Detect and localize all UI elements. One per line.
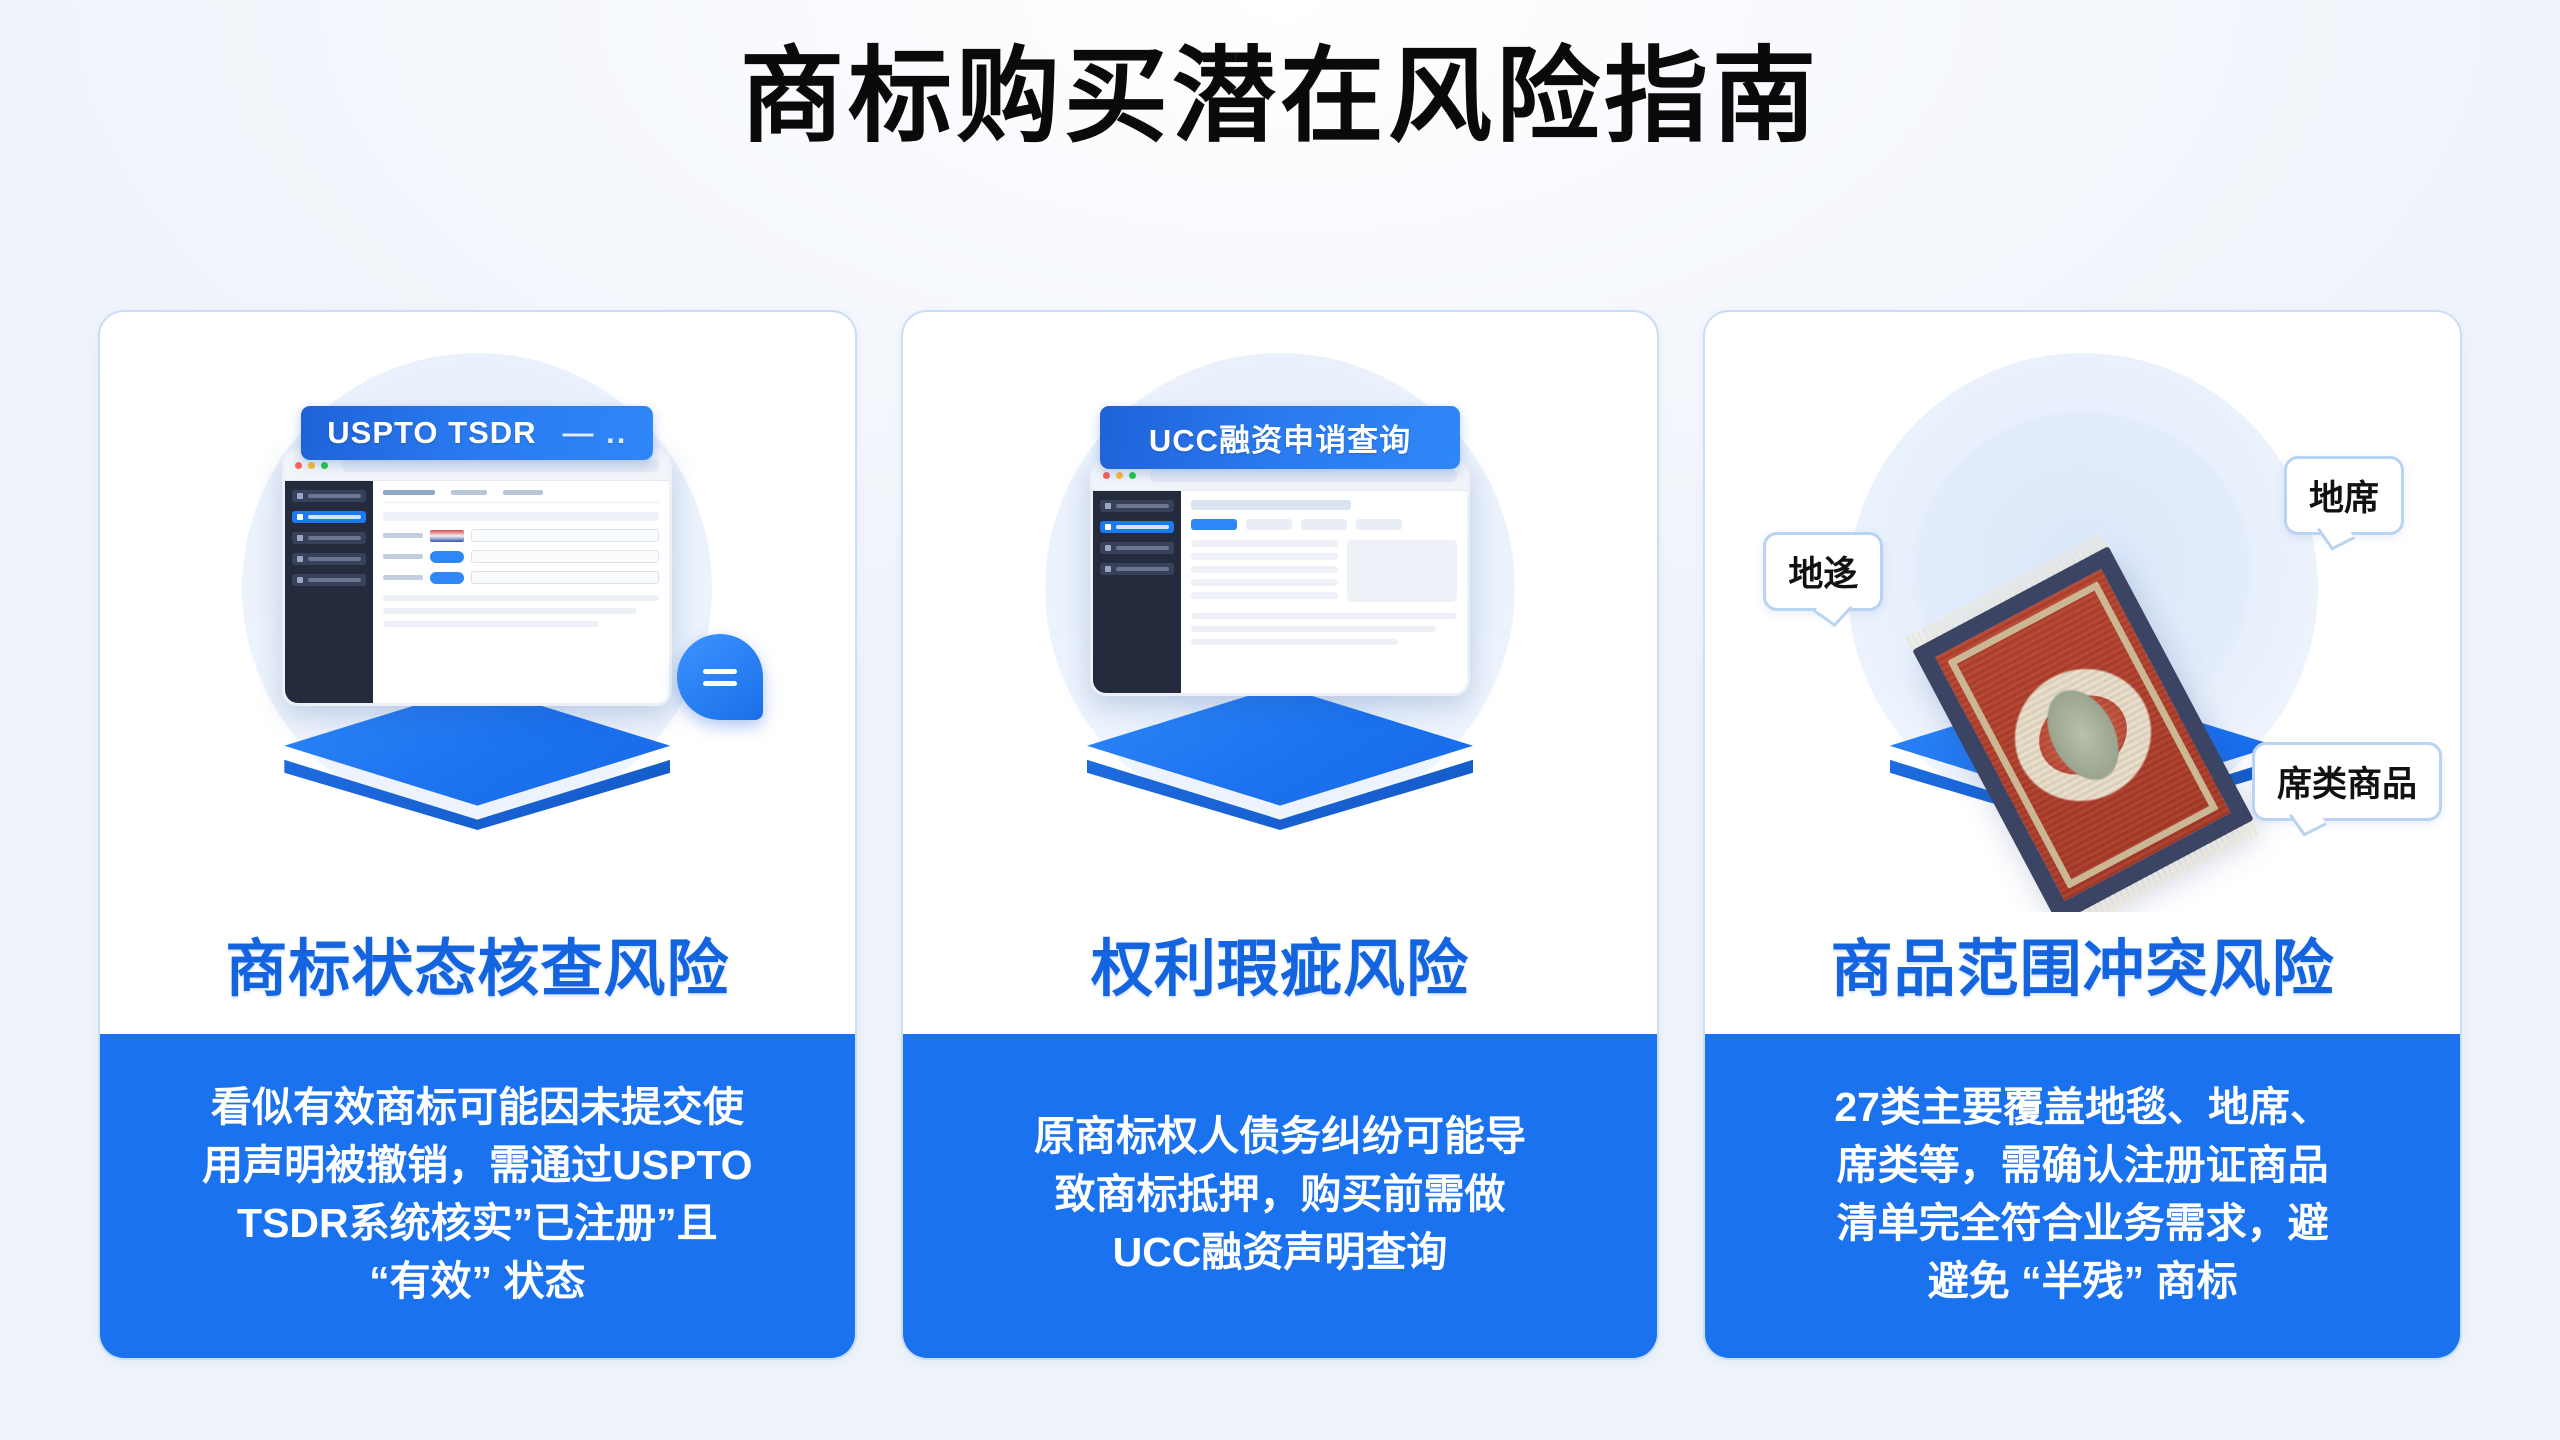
- callout-bubble-xilei-shangpin: 席类商品: [2252, 742, 2442, 821]
- body-line: “有效” 状态: [126, 1252, 829, 1310]
- illustration-carpet-callouts: 地迻 地席 席类商品: [1705, 312, 2460, 912]
- browser-window-mockup: [282, 448, 672, 706]
- card-heading: 商标状态核查风险: [100, 912, 855, 1034]
- sidebar-row-active: [292, 511, 366, 523]
- sidebar-row: [292, 574, 366, 586]
- risk-card-trademark-status: USPTO TSDR— .. 商标状态核查风险 看似有效商标可能因未提交使 用声…: [98, 310, 857, 1360]
- body-line: 27类主要覆盖地毯、地席、: [1731, 1078, 2434, 1136]
- mockup-tabs: [1191, 519, 1457, 530]
- callout-bubble-dixi: 地席: [2284, 456, 2404, 535]
- minimize-dot-icon: [1116, 472, 1123, 479]
- card-body-text: 原商标权人债务纠纷可能导 致商标抵押，购买前需做 UCC融资声明查询: [903, 1034, 1658, 1358]
- body-line: 清单完全符合业务需求，避: [1731, 1194, 2434, 1252]
- card-heading: 权利瑕疵风险: [903, 912, 1658, 1034]
- card-heading: 商品范围冲突风险: [1705, 912, 2460, 1034]
- mockup-results-grid: [1191, 540, 1457, 602]
- url-bar-placeholder: [342, 459, 659, 472]
- status-chip: [430, 572, 464, 584]
- minimize-dot-icon: [308, 462, 315, 469]
- mockup-tabs: [383, 490, 659, 503]
- maximize-dot-icon: [1129, 472, 1136, 479]
- body-line: 致商标抵押，购买前需做: [929, 1165, 1632, 1223]
- body-line: UCC融资声明查询: [929, 1223, 1632, 1281]
- sidebar-row: [1100, 542, 1174, 554]
- body-line: 席类等，需确认注册证商品: [1731, 1136, 2434, 1194]
- mockup-text-lines: [1191, 613, 1457, 645]
- mockup-text-lines: [1191, 540, 1338, 602]
- sidebar-row-active: [1100, 521, 1174, 533]
- illustration-label-ucc: UCC融资申诮查询: [1100, 406, 1460, 469]
- risk-card-rights-defect: UCC融资申诮查询 权利瑕疵风险 原商标权人债务纠纷可能导 致商标抵押，购买前需…: [901, 310, 1660, 1360]
- mockup-preview-box: [1347, 540, 1457, 602]
- platform-slab-icon: [1087, 686, 1473, 816]
- sidebar-row: [292, 490, 366, 502]
- body-line: 用声明被撤销，需通过USPTO: [126, 1136, 829, 1194]
- body-line: 看似有效商标可能因未提交使: [126, 1078, 829, 1136]
- mockup-form-row: [383, 550, 659, 563]
- mockup-section-header: [383, 512, 659, 521]
- body-line: 原商标权人债务纠纷可能导: [929, 1107, 1632, 1165]
- risk-card-goods-scope: 地迻 地席 席类商品 商品范围冲突风险 27类主要覆盖地毯、地席、 席类等，需确…: [1703, 310, 2462, 1360]
- close-dot-icon: [1103, 472, 1110, 479]
- maximize-dot-icon: [321, 462, 328, 469]
- flag-icon: [430, 530, 464, 542]
- callout-bubble-ditan: 地迻: [1763, 532, 1883, 611]
- mockup-form-row: [383, 571, 659, 584]
- sidebar-row: [292, 532, 366, 544]
- mockup-content: [373, 481, 669, 703]
- illustration-ucc-search: UCC融资申诮查询: [903, 312, 1658, 912]
- mockup-text-lines: [383, 595, 659, 627]
- url-bar-placeholder: [1150, 469, 1457, 482]
- status-chip: [430, 551, 464, 563]
- sidebar-row: [1100, 500, 1174, 512]
- mockup-form-row: [383, 529, 659, 542]
- sidebar-row: [1100, 563, 1174, 575]
- close-dot-icon: [295, 462, 302, 469]
- body-line: TSDR系统核实”已注册”且: [126, 1194, 829, 1252]
- equals-chat-badge-icon: [677, 634, 763, 720]
- page-title: 商标购买潜在风险指南: [0, 38, 2560, 158]
- card-body-text: 看似有效商标可能因未提交使 用声明被撤销，需通过USPTO TSDR系统核实”已…: [100, 1034, 855, 1358]
- mockup-section-header: [1191, 500, 1351, 510]
- risk-card-list: USPTO TSDR— .. 商标状态核查风险 看似有效商标可能因未提交使 用声…: [98, 310, 2462, 1360]
- illustration-uspto-tsdr: USPTO TSDR— ..: [100, 312, 855, 912]
- sidebar-row: [292, 553, 366, 565]
- mockup-content: [1181, 491, 1467, 693]
- illustration-label-uspto-tsdr: USPTO TSDR— ..: [301, 406, 653, 460]
- browser-window-mockup: [1090, 458, 1470, 696]
- body-line: 避免 “半残” 商标: [1731, 1252, 2434, 1310]
- card-body-text: 27类主要覆盖地毯、地席、 席类等，需确认注册证商品 清单完全符合业务需求，避 …: [1705, 1034, 2460, 1358]
- mockup-sidebar: [285, 481, 373, 703]
- mockup-sidebar: [1093, 491, 1181, 693]
